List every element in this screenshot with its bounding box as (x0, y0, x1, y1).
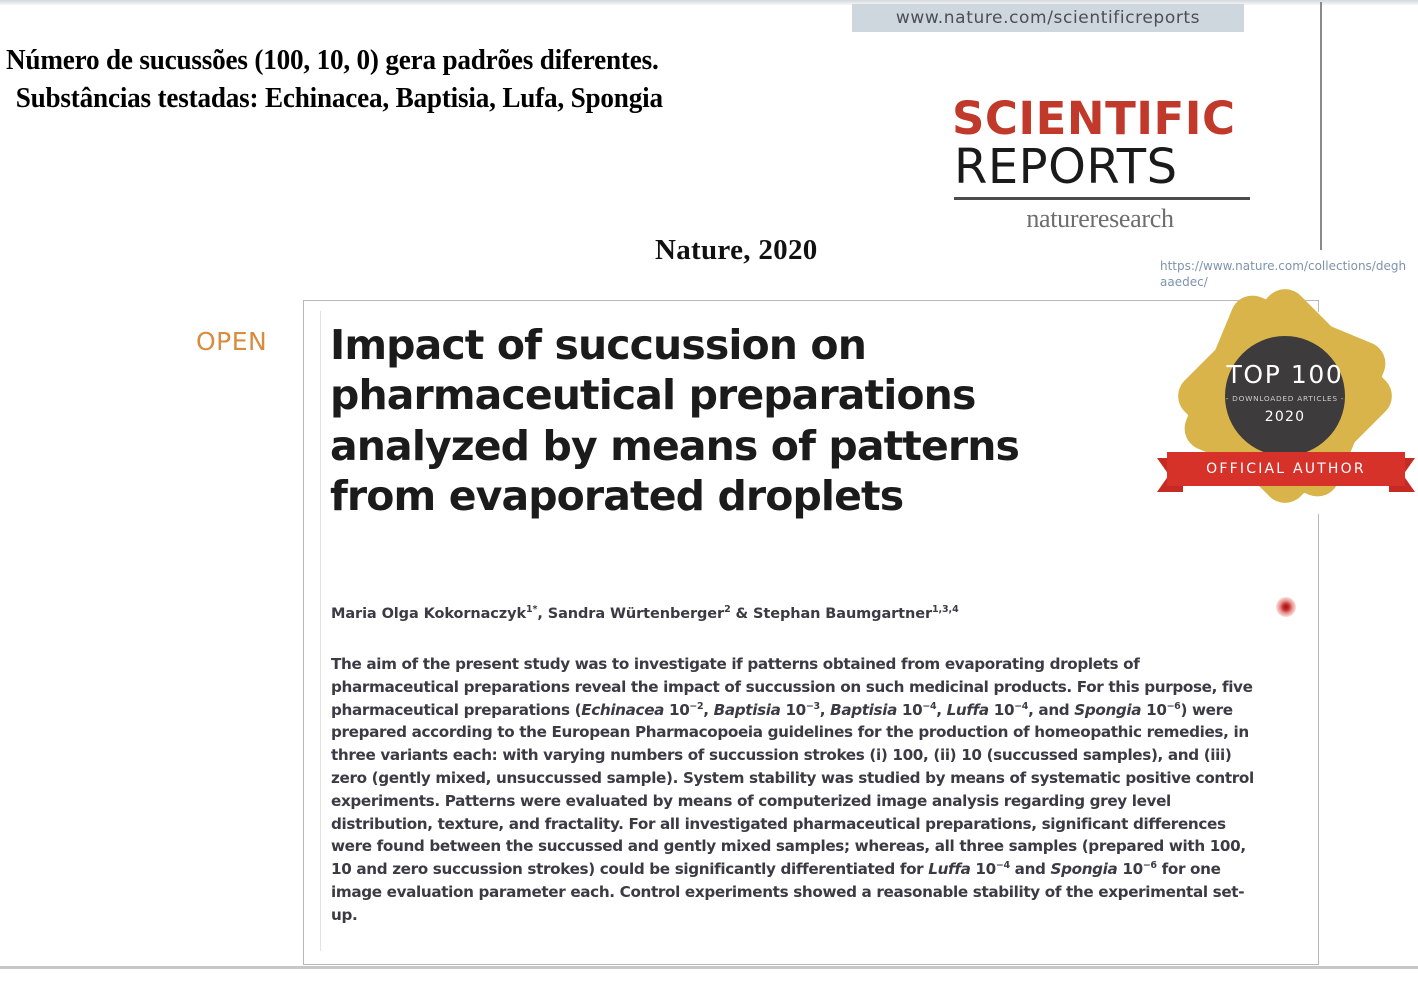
header-vertical-rule (1320, 2, 1322, 250)
collections-url-link[interactable]: https://www.nature.com/collections/degha… (1160, 258, 1410, 290)
badge-rank: TOP 100 (1225, 362, 1345, 387)
logo-reports: REPORTS (954, 143, 1252, 191)
article-title: Impact of succussion on pharmaceutical p… (330, 320, 1060, 522)
slide-bottom-band (0, 969, 1418, 998)
annotation-line-1: Número de sucussões (100, 10, 0) gera pa… (6, 45, 659, 76)
top100-badge: TOP 100 - DOWNLOADED ARTICLES - 2020 OFF… (1157, 312, 1415, 514)
presentation-slide: Número de sucussões (100, 10, 0) gera pa… (0, 0, 1418, 998)
logo-divider (954, 197, 1250, 200)
source-citation-label: Nature, 2020 (655, 234, 818, 267)
scientific-reports-logo: SCIENTIFIC REPORTS natureresearch (952, 97, 1252, 234)
slide-annotation-text: Número de sucussões (100, 10, 0) gera pa… (6, 42, 937, 119)
title-column-rule (320, 311, 321, 951)
journal-header-url: www.nature.com/scientificreports (896, 8, 1200, 28)
laser-pointer-dot (1276, 597, 1296, 617)
logo-publisher: natureresearch (952, 204, 1248, 234)
journal-header-url-tab: www.nature.com/scientificreports (852, 4, 1244, 32)
article-abstract: The aim of the present study was to inve… (331, 653, 1261, 927)
badge-ribbon: OFFICIAL AUTHOR (1167, 452, 1405, 486)
logo-scientific: SCIENTIFIC (952, 97, 1252, 141)
badge-year: 2020 (1225, 409, 1345, 425)
article-authors: Maria Olga Kokornaczyk1*, Sandra Würtenb… (331, 604, 1191, 622)
annotation-line-2: Substâncias testadas: Echinacea, Baptisi… (6, 80, 937, 118)
open-access-label: OPEN (196, 327, 267, 356)
badge-subtitle: - DOWNLOADED ARTICLES - (1225, 394, 1345, 403)
badge-ribbon-label: OFFICIAL AUTHOR (1206, 461, 1366, 477)
badge-center: TOP 100 - DOWNLOADED ARTICLES - 2020 (1225, 336, 1345, 456)
